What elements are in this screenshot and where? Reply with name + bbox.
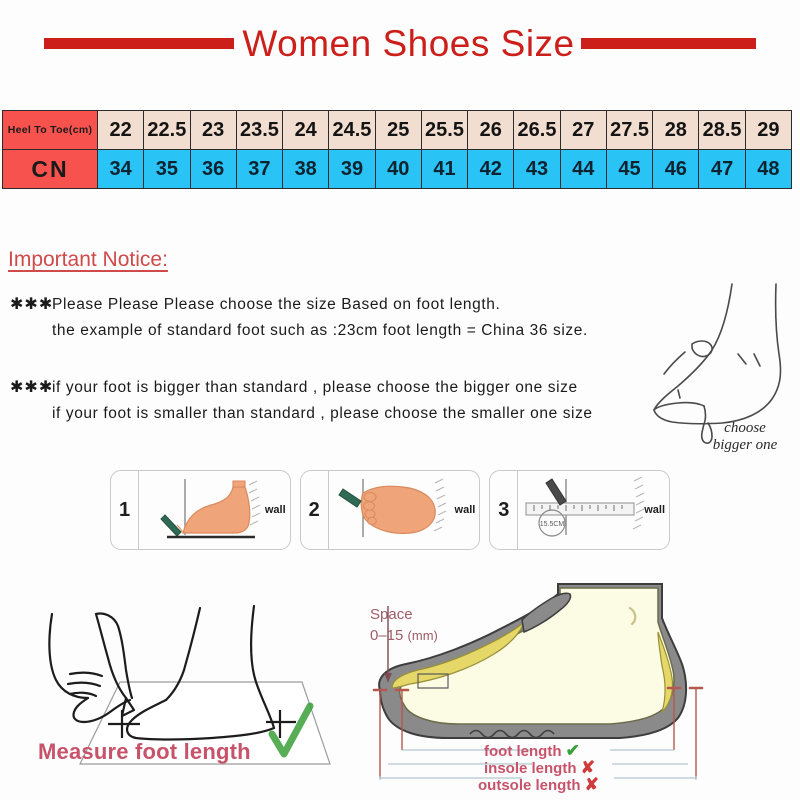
cell-cm: 26 <box>468 111 514 150</box>
space-dimension-label: Space 0–15 (mm) <box>370 604 438 646</box>
cell-cm: 27 <box>560 111 606 150</box>
asterisk-marker: ✱✱✱ <box>10 375 52 401</box>
cell-cn: 43 <box>514 150 560 189</box>
cell-cm: 25.5 <box>421 111 467 150</box>
ruler-badge-text: 15.5CM <box>540 521 565 528</box>
choose-bigger-caption: choose bigger one <box>690 420 800 454</box>
notice-line-text: Please Please Please choose the size Bas… <box>52 296 500 313</box>
cell-cn: 35 <box>144 150 190 189</box>
wall-label: wall <box>644 504 665 516</box>
step-2-illustration: wall <box>329 471 480 549</box>
choose-bigger-line-1: choose <box>690 420 800 437</box>
step-panel-2: 2 wall <box>300 470 481 550</box>
cell-cn: 46 <box>653 150 699 189</box>
page-title: Women Shoes Size <box>240 25 576 62</box>
step-panel-1: 1 wall <box>110 470 291 550</box>
legend-outsole-length: outsole length ✘ <box>478 775 599 795</box>
title-rule-left <box>44 38 234 49</box>
cell-cn: 40 <box>375 150 421 189</box>
cross-icon: ✘ <box>585 775 599 794</box>
cell-cn: 45 <box>606 150 652 189</box>
cell-cm: 23.5 <box>236 111 282 150</box>
cell-cn: 36 <box>190 150 236 189</box>
measure-foot-length-caption: Measure foot length <box>38 739 251 765</box>
cell-cm: 28.5 <box>699 111 745 150</box>
notice-line: ✱✱✱if your foot is bigger than standard … <box>10 375 593 401</box>
notice-line-text: if your foot is bigger than standard , p… <box>52 379 578 396</box>
cell-cm: 27.5 <box>606 111 652 150</box>
notice-line-text: if your foot is smaller than standard , … <box>52 405 593 422</box>
row-label-cn: CN <box>3 150 98 189</box>
measure-caption-text: Measure foot length <box>38 739 251 764</box>
step-3-illustration: 15.5CM wall <box>518 471 669 549</box>
cell-cm: 26.5 <box>514 111 560 150</box>
notice-heading: Important Notice: <box>8 248 168 272</box>
cell-cm: 22 <box>98 111 144 150</box>
space-range-value: 0–15 <box>370 627 403 644</box>
page-title-bar: Women Shoes Size <box>0 18 800 68</box>
notice-line: ✱✱✱Please Please Please choose the size … <box>10 292 588 318</box>
cell-cn: 39 <box>329 150 375 189</box>
table-row-heel-to-toe: Heel To Toe(cm) 22 22.5 23 23.5 24 24.5 … <box>3 111 792 150</box>
space-label-line-2: 0–15 (mm) <box>370 625 438 646</box>
cell-cm: 24 <box>283 111 329 150</box>
row-label-heel-to-toe: Heel To Toe(cm) <box>3 111 98 150</box>
table-row-cn: CN 34 35 36 37 38 39 40 41 42 43 44 45 4… <box>3 150 792 189</box>
cell-cn: 37 <box>236 150 282 189</box>
cell-cm: 29 <box>745 111 791 150</box>
legend-label: outsole length <box>478 777 581 794</box>
cell-cm: 25 <box>375 111 421 150</box>
cell-cn: 34 <box>98 150 144 189</box>
step-number: 2 <box>301 471 329 549</box>
cell-cn: 44 <box>560 150 606 189</box>
cell-cm: 23 <box>190 111 236 150</box>
cell-cn: 41 <box>421 150 467 189</box>
measurement-steps: 1 wall 2 <box>110 470 670 550</box>
cell-cm: 24.5 <box>329 111 375 150</box>
cell-cn: 38 <box>283 150 329 189</box>
space-unit: (mm) <box>408 628 438 643</box>
title-rule-right <box>581 38 756 49</box>
cell-cn: 42 <box>468 150 514 189</box>
space-label-line-1: Space <box>370 604 438 625</box>
cell-cn: 47 <box>699 150 745 189</box>
step-number: 3 <box>490 471 518 549</box>
choose-bigger-line-2: bigger one <box>690 437 800 454</box>
notice-paragraph-1: ✱✱✱Please Please Please choose the size … <box>10 292 588 344</box>
notice-paragraph-2: ✱✱✱if your foot is bigger than standard … <box>10 375 593 427</box>
wall-label: wall <box>265 504 286 516</box>
asterisk-marker: ✱✱✱ <box>10 292 52 318</box>
wall-label: wall <box>455 504 476 516</box>
step-1-illustration: wall <box>139 471 290 549</box>
size-conversion-table: Heel To Toe(cm) 22 22.5 23 23.5 24 24.5 … <box>2 110 792 189</box>
step-number: 1 <box>111 471 139 549</box>
cell-cn: 48 <box>745 150 791 189</box>
notice-line: the example of standard foot such as :23… <box>10 318 588 344</box>
notice-line-text: the example of standard foot such as :23… <box>52 322 588 339</box>
step-panel-3: 3 15.5CM <box>489 470 670 550</box>
cell-cm: 28 <box>653 111 699 150</box>
cell-cm: 22.5 <box>144 111 190 150</box>
notice-line: if your foot is smaller than standard , … <box>10 401 593 427</box>
